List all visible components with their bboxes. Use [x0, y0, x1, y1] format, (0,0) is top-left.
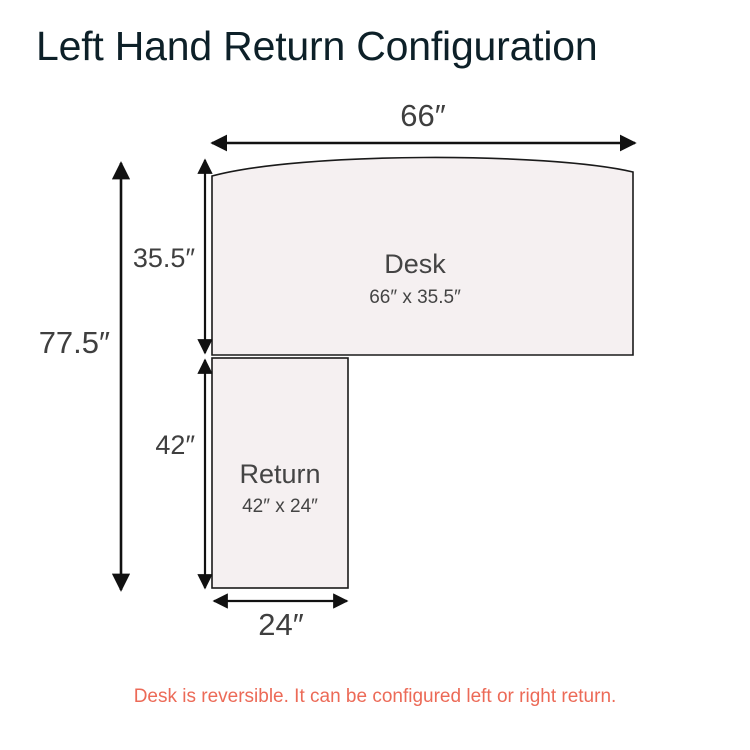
dimension-depth-35-5: 35.5″ — [133, 160, 205, 353]
return-label-size: 42″ x 24″ — [242, 496, 318, 517]
return-label-group: Return 42″ x 24″ — [239, 459, 320, 517]
dimension-label-return-length: 42″ — [155, 430, 195, 460]
dimension-overall-77-5: 77.5″ — [39, 163, 121, 590]
dimension-length-42: 42″ — [155, 360, 205, 588]
dimension-label-overall-height: 77.5″ — [39, 325, 110, 360]
dimension-label-desk-depth: 35.5″ — [133, 243, 196, 273]
dimension-width-24: 24″ — [214, 601, 347, 642]
dimension-width-66: 66″ — [212, 98, 635, 143]
diagram-canvas: Left Hand Return Configuration 66″ 35.5″… — [0, 0, 750, 750]
dimension-label-overall-width: 66″ — [400, 98, 445, 133]
desk-label-name: Desk — [384, 249, 446, 279]
desk-label-size: 66″ x 35.5″ — [369, 287, 461, 308]
footer-note: Desk is reversible. It can be configured… — [134, 686, 617, 707]
return-label-name: Return — [239, 459, 320, 489]
desk-configuration-diagram: Left Hand Return Configuration 66″ 35.5″… — [0, 0, 750, 750]
page-title: Left Hand Return Configuration — [36, 23, 598, 69]
dimension-label-return-width: 24″ — [258, 607, 303, 642]
